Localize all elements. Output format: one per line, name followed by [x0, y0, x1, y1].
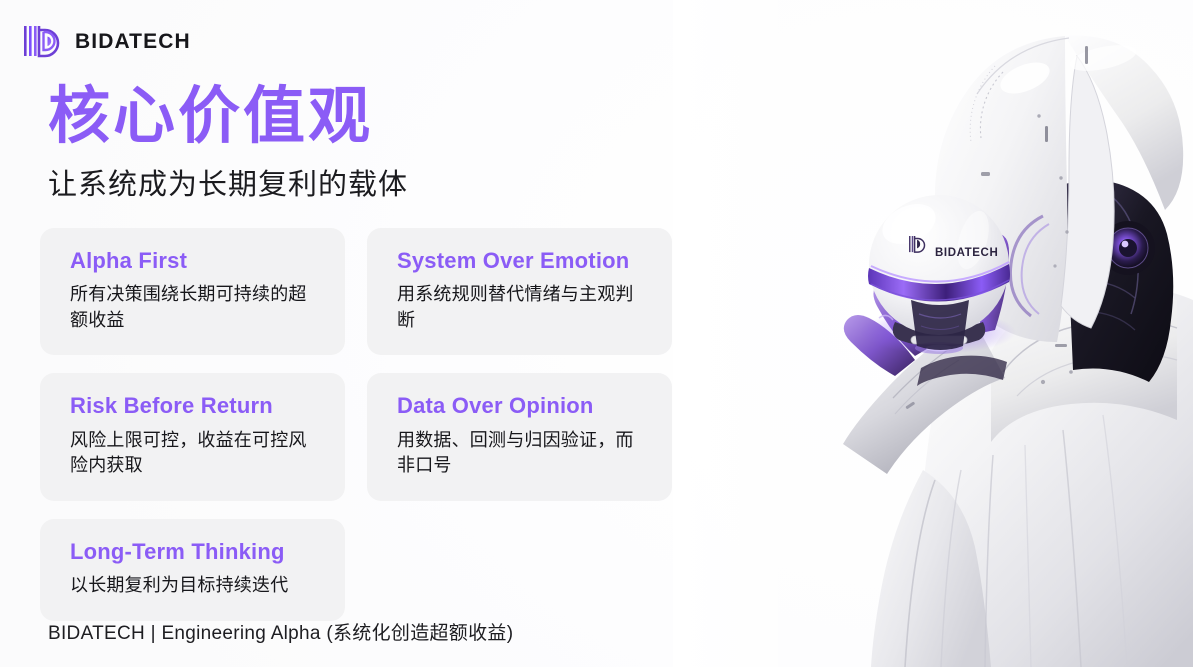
value-card-system-over-emotion[interactable]: System Over Emotion 用系统规则替代情绪与主观判断	[367, 228, 672, 355]
orb-panel	[911, 300, 969, 350]
value-card-title: Risk Before Return	[70, 393, 323, 418]
robot-face-plate	[1061, 56, 1114, 328]
page-title: 核心价值观	[48, 84, 373, 151]
robot-artwork: BIDATECH	[673, 0, 1193, 667]
brand-logo[interactable]: BIDATECH	[22, 22, 191, 60]
value-card-description: 用数据、回测与归因验证，而非口号	[397, 428, 650, 479]
robot-robe-left-drape	[871, 470, 991, 667]
robot-finger-1	[844, 315, 915, 376]
orb-ring	[868, 264, 1010, 302]
value-card-title: Long-Term Thinking	[70, 539, 323, 564]
value-card-description: 以长期复利为目标持续迭代	[70, 573, 323, 599]
page-subtitle: 让系统成为长期复利的载体	[48, 168, 408, 203]
robot-finger-4	[979, 233, 1009, 333]
value-card-description: 用系统规则替代情绪与主观判断	[397, 282, 650, 333]
robot-finger-3	[923, 244, 965, 338]
value-card-title: Alpha First	[70, 248, 323, 273]
robot-robe-back	[915, 284, 1193, 667]
bidatech-b-mark-icon	[22, 22, 66, 60]
value-card-alpha-first[interactable]: Alpha First 所有决策围绕长期可持续的超额收益	[40, 228, 345, 355]
orb-pedestal	[893, 322, 986, 347]
value-card-title: System Over Emotion	[397, 248, 650, 273]
slide-root: BIDATECH 核心价值观 让系统成为长期复利的载体 Alpha First …	[0, 0, 1193, 667]
robot-head-crown	[1065, 36, 1183, 210]
value-card-title: Data Over Opinion	[397, 393, 650, 418]
orb-glow	[860, 310, 1016, 354]
robot-finger-2	[873, 279, 935, 356]
brand-wordmark: BIDATECH	[75, 31, 191, 52]
robot-eye-lens	[1108, 228, 1148, 268]
bidatech-orb	[869, 195, 1009, 335]
orb-bidatech-logo	[909, 236, 925, 252]
robot-head-shell	[935, 36, 1067, 342]
slide-footer: BIDATECH | Engineering Alpha (系统化创造超额收益)	[48, 618, 513, 645]
robot-forearm	[843, 318, 1005, 474]
value-card-long-term-thinking[interactable]: Long-Term Thinking 以长期复利为目标持续迭代	[40, 519, 345, 621]
value-card-description: 风险上限可控，收益在可控风险内获取	[70, 428, 323, 479]
value-card-grid: Alpha First 所有决策围绕长期可持续的超额收益 System Over…	[40, 228, 688, 621]
value-card-data-over-opinion[interactable]: Data Over Opinion 用数据、回测与归因验证，而非口号	[367, 373, 672, 500]
robot-eye-housing	[1101, 221, 1155, 275]
robot-neck-internals	[1065, 180, 1173, 382]
value-card-description: 所有决策围绕长期可持续的超额收益	[70, 282, 323, 333]
orb-wordmark: BIDATECH	[935, 247, 998, 259]
value-card-risk-before-return[interactable]: Risk Before Return 风险上限可控，收益在可控风险内获取	[40, 373, 345, 500]
robot-shoulder-plate	[991, 289, 1177, 442]
